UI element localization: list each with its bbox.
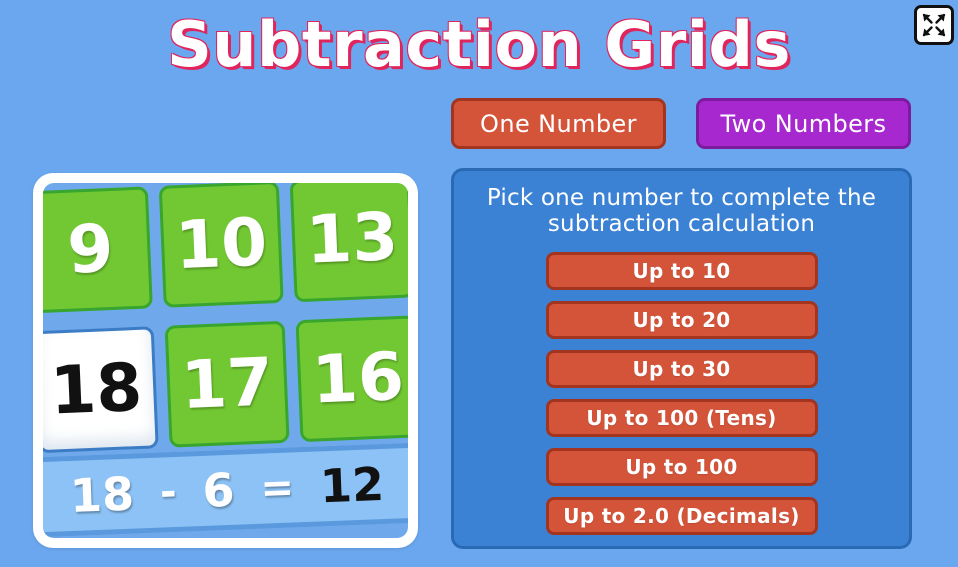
panel-heading: Pick one number to complete the subtract… bbox=[482, 185, 882, 238]
option-up-to-2-decimals[interactable]: Up to 2.0 (Decimals) bbox=[546, 497, 818, 535]
preview-tile-value: 13 bbox=[305, 204, 400, 274]
tab-two-numbers-label: Two Numbers bbox=[721, 110, 887, 138]
equation-answer: 12 bbox=[319, 461, 385, 509]
preview-equation-bar: 18 - 6 = 12 bbox=[43, 442, 408, 538]
option-label: Up to 10 bbox=[632, 259, 730, 283]
preview-tile: 17 bbox=[165, 321, 290, 448]
option-list: Up to 10 Up to 20 Up to 30 Up to 100 (Te… bbox=[454, 252, 909, 535]
preview-tile-value: 16 bbox=[311, 344, 406, 414]
equation-subtrahend: 6 bbox=[202, 467, 236, 514]
preview-tile-grid: 9 10 13 18 17 bbox=[43, 183, 408, 474]
panel-heading-line-1: Pick one number to complete the bbox=[482, 185, 882, 211]
preview-answer-tile: 18 bbox=[43, 326, 159, 453]
page-title: Subtraction Grids bbox=[0, 8, 958, 81]
preview-tile-row: 18 17 16 bbox=[43, 315, 408, 453]
option-up-to-100[interactable]: Up to 100 bbox=[546, 448, 818, 486]
equation-operator: - bbox=[159, 472, 177, 513]
preview-tile: 13 bbox=[290, 183, 408, 302]
panel-heading-line-2: subtraction calculation bbox=[482, 211, 882, 237]
option-label: Up to 20 bbox=[632, 308, 730, 332]
option-up-to-20[interactable]: Up to 20 bbox=[546, 301, 818, 339]
preview-tile-value: 18 bbox=[49, 355, 144, 425]
preview-tile-value: 10 bbox=[174, 209, 269, 279]
option-up-to-10[interactable]: Up to 10 bbox=[546, 252, 818, 290]
equation-minuend: 18 bbox=[69, 471, 135, 519]
equation-equals-sign: = bbox=[260, 467, 295, 508]
preview-tile: 16 bbox=[295, 315, 408, 442]
tab-one-number[interactable]: One Number bbox=[451, 98, 666, 149]
option-up-to-100-tens[interactable]: Up to 100 (Tens) bbox=[546, 399, 818, 437]
preview-tile: 10 bbox=[159, 183, 284, 308]
options-panel: Pick one number to complete the subtract… bbox=[451, 168, 912, 549]
game-preview-card[interactable]: 9 10 13 18 17 bbox=[33, 173, 418, 548]
option-label: Up to 100 bbox=[625, 455, 737, 479]
preview-tile-row: 9 10 13 bbox=[43, 183, 408, 313]
preview-tile: 9 bbox=[43, 186, 153, 313]
game-preview-image: 9 10 13 18 17 bbox=[43, 183, 408, 538]
app-root: Subtraction Grids One Number Two Numbers… bbox=[0, 0, 958, 567]
option-label: Up to 100 (Tens) bbox=[586, 406, 776, 430]
preview-tile-value: 9 bbox=[66, 216, 115, 284]
mode-tabs: One Number Two Numbers bbox=[451, 98, 911, 149]
option-label: Up to 2.0 (Decimals) bbox=[563, 504, 799, 528]
option-up-to-30[interactable]: Up to 30 bbox=[546, 350, 818, 388]
option-label: Up to 30 bbox=[632, 357, 730, 381]
tab-one-number-label: One Number bbox=[480, 110, 637, 138]
preview-tile-value: 17 bbox=[180, 349, 275, 419]
tab-two-numbers[interactable]: Two Numbers bbox=[696, 98, 911, 149]
